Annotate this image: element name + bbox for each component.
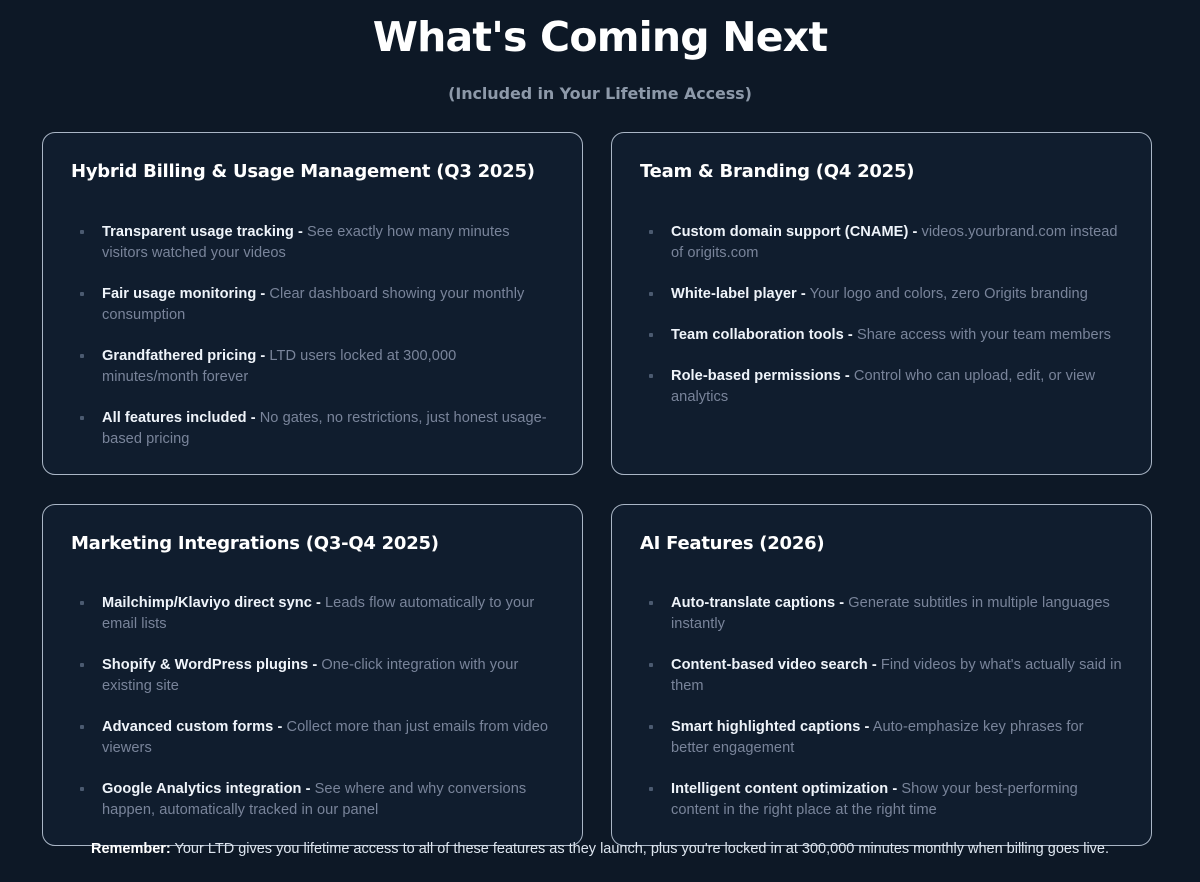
bullet-icon bbox=[649, 292, 653, 296]
feature-list-item: White-label player - Your logo and color… bbox=[640, 284, 1123, 305]
feature-list-item: Intelligent content optimization - Show … bbox=[640, 779, 1123, 821]
bullet-icon bbox=[649, 374, 653, 378]
feature-list-item: Auto-translate captions - Generate subti… bbox=[640, 593, 1123, 635]
bullet-icon bbox=[649, 333, 653, 337]
page-title: What's Coming Next bbox=[0, 12, 1200, 63]
feature-list-item: Custom domain support (CNAME) - videos.y… bbox=[640, 222, 1123, 264]
feature-list: Transparent usage tracking - See exactly… bbox=[71, 222, 554, 450]
feature-term: White-label player - bbox=[671, 286, 806, 302]
feature-list-item: Role-based permissions - Control who can… bbox=[640, 366, 1123, 408]
feature-list-item: Smart highlighted captions - Auto-emphas… bbox=[640, 717, 1123, 759]
feature-card-title: Team & Branding (Q4 2025) bbox=[640, 160, 1123, 183]
bullet-icon bbox=[80, 663, 84, 667]
feature-term: Mailchimp/Klaviyo direct sync - bbox=[102, 595, 321, 611]
footer-text: Your LTD gives you lifetime access to al… bbox=[171, 841, 1109, 857]
feature-list-item: Google Analytics integration - See where… bbox=[71, 779, 554, 821]
bullet-icon bbox=[649, 787, 653, 791]
feature-term: Google Analytics integration - bbox=[102, 781, 311, 797]
feature-list: Custom domain support (CNAME) - videos.y… bbox=[640, 222, 1123, 408]
feature-term: All features included - bbox=[102, 410, 256, 426]
feature-card: Marketing Integrations (Q3-Q4 2025)Mailc… bbox=[42, 504, 583, 846]
bullet-icon bbox=[649, 601, 653, 605]
feature-term: Transparent usage tracking - bbox=[102, 224, 303, 240]
feature-list-item: Fair usage monitoring - Clear dashboard … bbox=[71, 284, 554, 326]
feature-term: Role-based permissions - bbox=[671, 368, 850, 384]
footer-lead: Remember: bbox=[91, 841, 171, 857]
bullet-icon bbox=[649, 230, 653, 234]
feature-list: Mailchimp/Klaviyo direct sync - Leads fl… bbox=[71, 593, 554, 821]
feature-list-item: Advanced custom forms - Collect more tha… bbox=[71, 717, 554, 759]
feature-card-grid: Hybrid Billing & Usage Management (Q3 20… bbox=[0, 132, 1200, 846]
feature-list-item: Shopify & WordPress plugins - One-click … bbox=[71, 655, 554, 697]
page-header: What's Coming Next (Included in Your Lif… bbox=[0, 0, 1200, 103]
feature-term: Shopify & WordPress plugins - bbox=[102, 657, 317, 673]
bullet-icon bbox=[80, 416, 84, 420]
bullet-icon bbox=[80, 230, 84, 234]
feature-list: Auto-translate captions - Generate subti… bbox=[640, 593, 1123, 821]
bullet-icon bbox=[649, 663, 653, 667]
feature-term: Grandfathered pricing - bbox=[102, 348, 265, 364]
feature-description: Your logo and colors, zero Origits brand… bbox=[806, 286, 1088, 302]
bullet-icon bbox=[80, 601, 84, 605]
page-subtitle: (Included in Your Lifetime Access) bbox=[0, 84, 1200, 103]
feature-term: Advanced custom forms - bbox=[102, 719, 282, 735]
feature-card-title: Hybrid Billing & Usage Management (Q3 20… bbox=[71, 160, 554, 183]
feature-list-item: Team collaboration tools - Share access … bbox=[640, 325, 1123, 346]
feature-term: Custom domain support (CNAME) - bbox=[671, 224, 917, 240]
feature-term: Content-based video search - bbox=[671, 657, 877, 673]
feature-list-item: Grandfathered pricing - LTD users locked… bbox=[71, 346, 554, 388]
feature-term: Smart highlighted captions - bbox=[671, 719, 869, 735]
bullet-icon bbox=[80, 725, 84, 729]
feature-list-item: Transparent usage tracking - See exactly… bbox=[71, 222, 554, 264]
feature-list-item: Mailchimp/Klaviyo direct sync - Leads fl… bbox=[71, 593, 554, 635]
feature-term: Fair usage monitoring - bbox=[102, 286, 265, 302]
feature-term: Intelligent content optimization - bbox=[671, 781, 897, 797]
roadmap-page: What's Coming Next (Included in Your Lif… bbox=[0, 0, 1200, 882]
bullet-icon bbox=[80, 354, 84, 358]
feature-list-item: All features included - No gates, no res… bbox=[71, 408, 554, 450]
bullet-icon bbox=[649, 725, 653, 729]
feature-card: AI Features (2026)Auto-translate caption… bbox=[611, 504, 1152, 846]
feature-list-item: Content-based video search - Find videos… bbox=[640, 655, 1123, 697]
feature-card-title: AI Features (2026) bbox=[640, 532, 1123, 555]
bullet-icon bbox=[80, 292, 84, 296]
feature-term: Auto-translate captions - bbox=[671, 595, 844, 611]
bullet-icon bbox=[80, 787, 84, 791]
feature-card-title: Marketing Integrations (Q3-Q4 2025) bbox=[71, 532, 554, 555]
feature-term: Team collaboration tools - bbox=[671, 327, 853, 343]
feature-card: Hybrid Billing & Usage Management (Q3 20… bbox=[42, 132, 583, 474]
feature-description: Share access with your team members bbox=[853, 327, 1111, 343]
footer-note: Remember: Your LTD gives you lifetime ac… bbox=[0, 839, 1200, 859]
feature-card: Team & Branding (Q4 2025)Custom domain s… bbox=[611, 132, 1152, 474]
